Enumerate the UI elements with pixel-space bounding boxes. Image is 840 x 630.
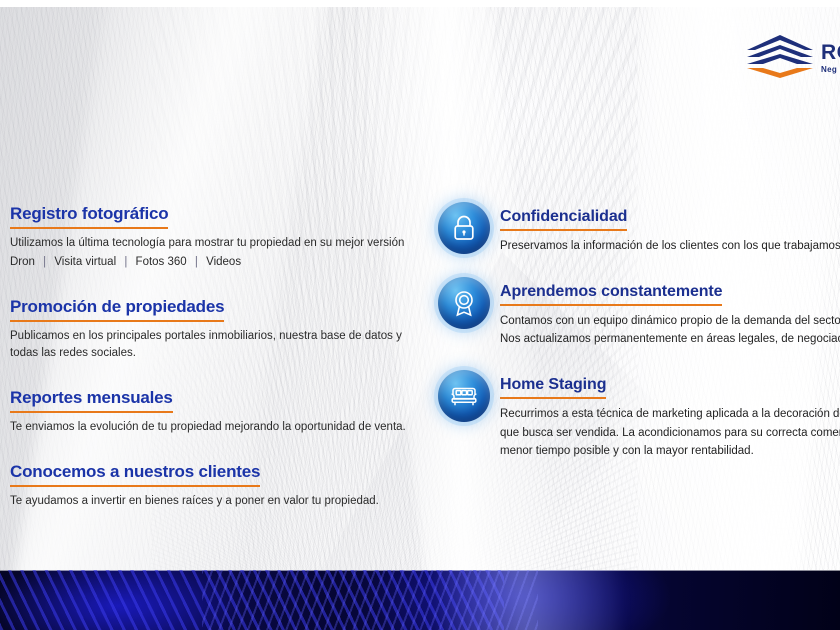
tag-dron: Dron <box>10 256 35 268</box>
feature-body: Te enviamos la evolución de tu propiedad… <box>10 419 410 437</box>
feature-block-promocion-de-propiedades: Promoción de propiedades Publicamos en l… <box>10 298 410 364</box>
left-feature-column: Registro fotográfico Utilizamos la últim… <box>10 205 410 511</box>
feature-title: Registro fotográfico <box>10 205 168 224</box>
feature-body: Te ayudamos a invertir en bienes raíces … <box>10 493 410 511</box>
feature-body: Utilizamos la última tecnología para mos… <box>10 235 410 253</box>
feature-block-reportes-mensuales: Reportes mensuales Te enviamos la evoluc… <box>10 389 410 437</box>
feature-title: Conocemos a nuestros clientes <box>10 463 260 482</box>
feature-title: Reportes mensuales <box>10 389 173 408</box>
tag-visita-virtual: Visita virtual <box>54 256 116 268</box>
logo-wordmark: RO Neg <box>821 38 840 74</box>
feature-text: Aprendemos constantemente Contamos con u… <box>500 277 840 348</box>
feature-body-line: que busca ser vendida. La acondicionamos… <box>500 424 840 442</box>
feature-block-confidencialidad: Confidencialidad Preservamos la informac… <box>438 202 840 255</box>
feature-title: Promoción de propiedades <box>10 298 224 317</box>
feature-block-home-staging: Home Staging Recurrimos a esta técnica d… <box>438 370 840 459</box>
tag-separator: | <box>119 256 132 268</box>
sofa-icon <box>438 370 490 422</box>
right-feature-column: Confidencialidad Preservamos la informac… <box>438 202 840 460</box>
logo-tagline: Neg <box>821 66 840 74</box>
tag-separator: | <box>190 256 203 268</box>
title-underline <box>10 411 173 413</box>
bottom-navy-band <box>0 570 840 630</box>
tag-fotos-360: Fotos 360 <box>136 256 187 268</box>
lock-icon <box>438 202 490 254</box>
feature-text: Confidencialidad Preservamos la informac… <box>500 202 840 255</box>
title-underline <box>10 227 168 229</box>
top-white-strip <box>0 0 840 7</box>
feature-block-registro-fotografico: Registro fotográfico Utilizamos la últim… <box>10 205 410 272</box>
feature-body: Publicamos en los principales portales i… <box>10 328 410 364</box>
brand-logo[interactable]: RO Neg <box>745 28 840 83</box>
title-underline <box>10 485 260 487</box>
feature-body-line: menor tiempo posible y con la mayor rent… <box>500 442 840 460</box>
feature-body-line: Contamos con un equipo dinámico propio d… <box>500 312 840 330</box>
feature-tag-list: Dron | Visita virtual | Fotos 360 | Vide… <box>10 254 410 272</box>
logo-name: RO <box>821 42 840 63</box>
title-underline <box>500 229 627 231</box>
feature-body-line: Nos actualizamos permanentemente en área… <box>500 330 840 348</box>
title-underline <box>500 304 722 306</box>
slide-canvas: RO Neg Registro fotográfico Utilizamos l… <box>0 0 840 630</box>
stacked-chevron-logo-icon <box>745 33 815 79</box>
feature-title: Confidencialidad <box>500 208 627 226</box>
feature-title: Home Staging <box>500 376 606 394</box>
feature-block-aprendemos-constantemente: Aprendemos constantemente Contamos con u… <box>438 277 840 348</box>
feature-text: Home Staging Recurrimos a esta técnica d… <box>500 370 840 459</box>
title-underline <box>10 320 224 322</box>
tag-videos: Videos <box>206 256 241 268</box>
title-underline <box>500 397 606 399</box>
feature-title: Aprendemos constantemente <box>500 283 722 301</box>
feature-block-conocemos-a-nuestros-clientes: Conocemos a nuestros clientes Te ayudamo… <box>10 463 410 511</box>
band-light-glow <box>437 570 622 630</box>
feature-body-line: Preservamos la información de los client… <box>500 237 840 255</box>
feature-body-line: Recurrimos a esta técnica de marketing a… <box>500 405 840 423</box>
award-medal-icon <box>438 277 490 329</box>
tag-separator: | <box>38 256 51 268</box>
